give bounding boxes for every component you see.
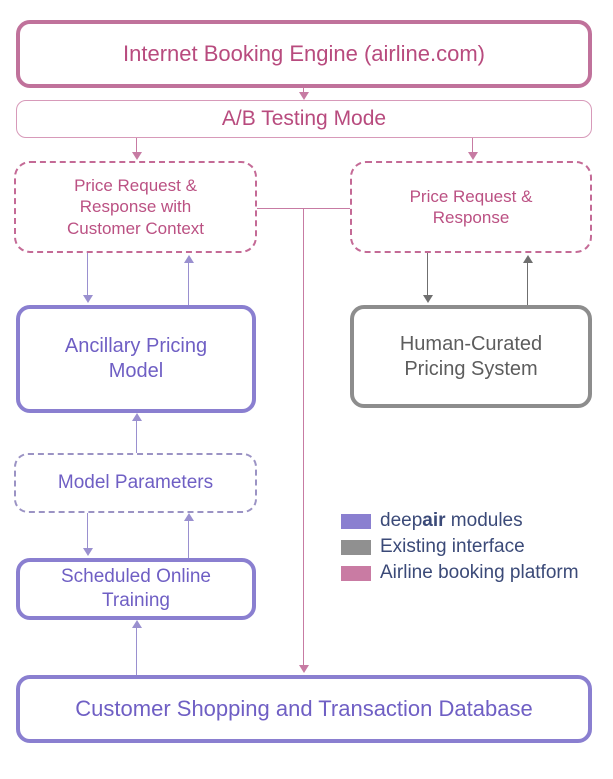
legend-label-part-suffix: modules bbox=[446, 510, 523, 531]
node-internet-booking-engine[interactable]: Internet Booking Engine (airline.com) bbox=[16, 20, 592, 88]
arrowhead-price-request-to-human-curated bbox=[423, 295, 433, 303]
node-label-line-1: Price Request & bbox=[74, 175, 197, 196]
connector-price-request-context-to-model bbox=[87, 253, 88, 297]
diagram-canvas: Internet Booking Engine (airline.com) A/… bbox=[0, 0, 613, 779]
node-price-request-response[interactable]: Price Request & Response bbox=[350, 161, 592, 253]
node-customer-shopping-transaction-database[interactable]: Customer Shopping and Transaction Databa… bbox=[16, 675, 592, 743]
connector-model-parameters-to-model bbox=[136, 419, 137, 453]
legend-item-existing-interface: Existing interface bbox=[341, 534, 579, 560]
node-label-line-2: Response with bbox=[80, 196, 192, 217]
arrowhead-ab-to-price-request-context bbox=[132, 152, 142, 160]
legend-item-deepair-modules: deepair modules bbox=[341, 508, 579, 534]
node-ab-testing-mode[interactable]: A/B Testing Mode bbox=[16, 100, 592, 138]
legend-label-existing-interface: Existing interface bbox=[380, 536, 525, 558]
node-label-line-2: Training bbox=[102, 589, 170, 613]
arrowhead-ibe-to-ab-testing bbox=[299, 92, 309, 100]
node-ancillary-pricing-model[interactable]: Ancillary Pricing Model bbox=[16, 305, 256, 413]
connector-ab-to-price-request-context bbox=[136, 138, 137, 153]
arrowhead-price-request-to-database bbox=[299, 665, 309, 673]
legend: deepair modules Existing interface Airli… bbox=[341, 508, 579, 586]
node-label-line-1: Price Request & bbox=[410, 186, 533, 207]
arrowhead-human-curated-to-price-request bbox=[523, 255, 533, 263]
connector-price-request-to-database bbox=[303, 208, 304, 667]
arrowhead-model-parameters-to-training bbox=[83, 548, 93, 556]
connector-database-to-training bbox=[136, 626, 137, 675]
node-label-line-1: Ancillary Pricing bbox=[65, 334, 207, 359]
arrowhead-training-to-model-parameters bbox=[184, 513, 194, 521]
node-label: A/B Testing Mode bbox=[222, 106, 386, 132]
node-label-line-1: Human-Curated bbox=[400, 332, 542, 357]
node-label: Internet Booking Engine (airline.com) bbox=[123, 40, 485, 67]
legend-label-part-prefix: deep bbox=[380, 510, 422, 531]
node-label-line-1: Scheduled Online bbox=[61, 565, 211, 589]
legend-swatch-existing-interface bbox=[341, 540, 371, 555]
node-price-request-response-with-customer-context[interactable]: Price Request & Response with Customer C… bbox=[14, 161, 257, 253]
arrowhead-database-to-training bbox=[132, 620, 142, 628]
connector-model-parameters-to-training bbox=[87, 513, 88, 550]
node-label-line-2: Pricing System bbox=[404, 357, 537, 382]
legend-item-airline-booking-platform: Airline booking platform bbox=[341, 560, 579, 586]
connector-model-to-price-request-context bbox=[188, 261, 189, 305]
node-model-parameters[interactable]: Model Parameters bbox=[14, 453, 257, 513]
arrowhead-model-parameters-to-model bbox=[132, 413, 142, 421]
connector-training-to-model-parameters bbox=[188, 519, 189, 558]
legend-label-deepair-modules: deepair modules bbox=[380, 510, 523, 532]
node-label-line-2: Model bbox=[109, 359, 163, 384]
node-label-line-2: Response bbox=[433, 207, 510, 228]
arrowhead-ab-to-price-request bbox=[468, 152, 478, 160]
node-human-curated-pricing-system[interactable]: Human-Curated Pricing System bbox=[350, 305, 592, 408]
connector-human-curated-to-price-request bbox=[527, 261, 528, 305]
legend-swatch-airline-booking-platform bbox=[341, 566, 371, 581]
node-label-line-3: Customer Context bbox=[67, 218, 204, 239]
arrowhead-model-to-price-request-context bbox=[184, 255, 194, 263]
legend-swatch-deepair-modules bbox=[341, 514, 371, 529]
node-label: Customer Shopping and Transaction Databa… bbox=[75, 695, 532, 722]
legend-label-part-bold: air bbox=[422, 510, 445, 531]
connector-price-request-to-human-curated bbox=[427, 253, 428, 297]
node-label: Model Parameters bbox=[58, 471, 213, 495]
legend-label-airline-booking-platform: Airline booking platform bbox=[380, 562, 579, 584]
arrowhead-price-request-context-to-model bbox=[83, 295, 93, 303]
connector-ab-to-price-request bbox=[472, 138, 473, 153]
node-scheduled-online-training[interactable]: Scheduled Online Training bbox=[16, 558, 256, 620]
